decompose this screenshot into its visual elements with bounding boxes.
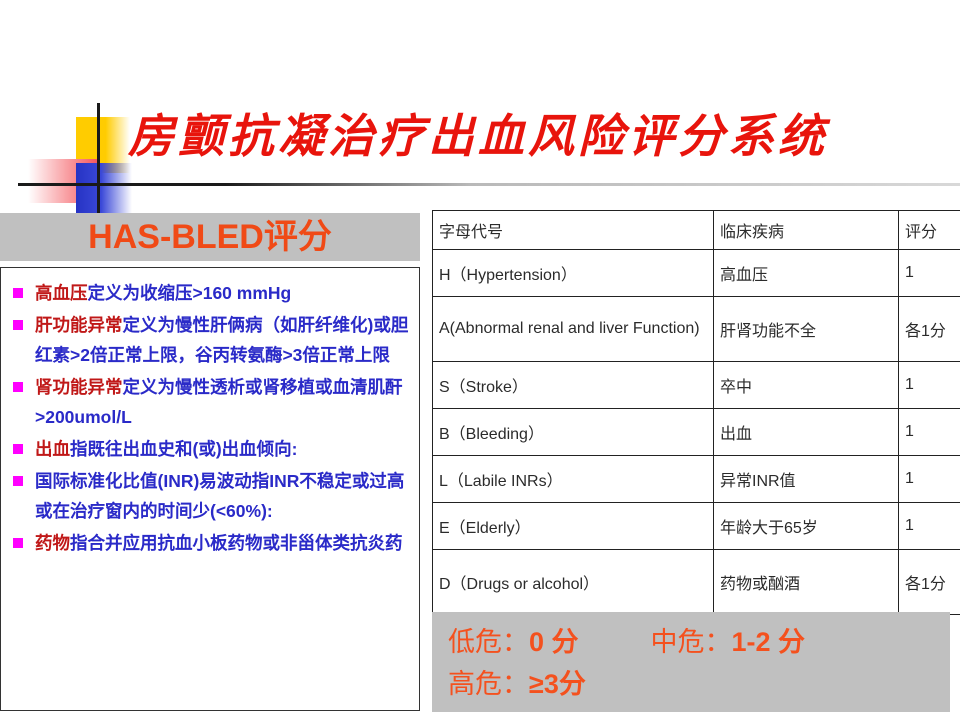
cell-score: 1 bbox=[899, 456, 960, 503]
cell-code: L（Labile INRs） bbox=[433, 456, 714, 503]
risk-high: 高危：≥3分 bbox=[448, 662, 586, 701]
risk-high-label: 高危： bbox=[448, 669, 529, 699]
list-item: 肾功能异常定义为慢性透析或肾移植或血清肌酐>200umol/L bbox=[7, 372, 415, 432]
bullet-rest: 定义为收缩压>160 mmHg bbox=[88, 283, 292, 303]
table-row: S（Stroke） 卒中 1 bbox=[433, 362, 960, 409]
title-band: 房颤抗凝治疗出血风险评分系统 bbox=[0, 95, 960, 195]
risk-line-bottom: 高危：≥3分 bbox=[448, 662, 950, 704]
has-bled-score-table-wrapper: 字母代号 临床疾病 评分 H（Hypertension） 高血压 1 A(Abn… bbox=[432, 210, 950, 649]
column-header-disease: 临床疾病 bbox=[714, 211, 899, 250]
left-panel-header: HAS-BLED评分 bbox=[0, 213, 420, 261]
cell-disease: 年龄大于65岁 bbox=[714, 503, 899, 550]
bullet-keyword: 出血 bbox=[35, 439, 70, 459]
table-row: B（Bleeding） 出血 1 bbox=[433, 409, 960, 456]
column-header-code: 字母代号 bbox=[433, 211, 714, 250]
risk-stratification-box: 低危：0 分 中危：1-2 分 高危：≥3分 bbox=[432, 612, 950, 712]
cell-score: 1 bbox=[899, 409, 960, 456]
bullet-rest: 指既往出血史和(或)出血倾向: bbox=[70, 439, 297, 459]
table-row: A(Abnormal renal and liver Function) 肝肾功… bbox=[433, 297, 960, 362]
has-bled-score-table: 字母代号 临床疾病 评分 H（Hypertension） 高血压 1 A(Abn… bbox=[432, 210, 960, 615]
bullet-keyword: 高血压 bbox=[35, 283, 88, 303]
left-panel-body: 高血压定义为收缩压>160 mmHg 肝功能异常定义为慢性肝俩病（如肝纤维化)或… bbox=[0, 267, 420, 711]
list-item: 药物指合并应用抗血小板药物或非甾体类抗炎药 bbox=[7, 528, 415, 558]
table-row: L（Labile INRs） 异常INR值 1 bbox=[433, 456, 960, 503]
bullet-text: 肾功能异常定义为慢性透析或肾移植或血清肌酐>200umol/L bbox=[35, 372, 415, 432]
cell-disease: 肝肾功能不全 bbox=[714, 297, 899, 362]
cell-code: A(Abnormal renal and liver Function) bbox=[433, 297, 714, 362]
risk-low: 低危：0 分 bbox=[448, 620, 579, 659]
logo-vertical-line bbox=[97, 103, 100, 225]
table-row: D（Drugs or alcohol） 药物或酗酒 各1分 bbox=[433, 550, 960, 615]
cell-code: S（Stroke） bbox=[433, 362, 714, 409]
cell-score: 1 bbox=[899, 362, 960, 409]
risk-mid-value: 1-2 分 bbox=[732, 627, 806, 657]
risk-low-value: 0 分 bbox=[529, 627, 579, 657]
table-row: H（Hypertension） 高血压 1 bbox=[433, 250, 960, 297]
cell-score: 各1分 bbox=[899, 297, 960, 362]
bullet-text: 国际标准化比值(INR)易波动指INR不稳定或过高或在治疗窗内的时间少(<60%… bbox=[35, 466, 415, 526]
bullet-rest: 国际标准化比值(INR)易波动指INR不稳定或过高或在治疗窗内的时间少(<60%… bbox=[35, 471, 404, 521]
risk-mid: 中危：1-2 分 bbox=[651, 620, 806, 659]
bullet-square-icon bbox=[13, 476, 23, 486]
bullet-text: 出血指既往出血史和(或)出血倾向: bbox=[35, 434, 415, 464]
cell-code: B（Bleeding） bbox=[433, 409, 714, 456]
cell-disease: 异常INR值 bbox=[714, 456, 899, 503]
left-panel-title: HAS-BLED评分 bbox=[88, 218, 332, 256]
cell-disease: 卒中 bbox=[714, 362, 899, 409]
bullet-square-icon bbox=[13, 382, 23, 392]
has-bled-definition-panel: HAS-BLED评分 高血压定义为收缩压>160 mmHg 肝功能异常定义为慢性… bbox=[0, 213, 422, 711]
table-row: E（Elderly） 年龄大于65岁 1 bbox=[433, 503, 960, 550]
cell-code: H（Hypertension） bbox=[433, 250, 714, 297]
cell-score: 各1分 bbox=[899, 550, 960, 615]
risk-low-label: 低危： bbox=[448, 627, 529, 657]
bullet-text: 药物指合并应用抗血小板药物或非甾体类抗炎药 bbox=[35, 528, 415, 558]
bullet-square-icon bbox=[13, 444, 23, 454]
cell-code: D（Drugs or alcohol） bbox=[433, 550, 714, 615]
bullet-square-icon bbox=[13, 320, 23, 330]
bullet-keyword: 肝功能异常 bbox=[35, 315, 123, 335]
bullet-text: 高血压定义为收缩压>160 mmHg bbox=[35, 278, 415, 308]
bullet-rest: 指合并应用抗血小板药物或非甾体类抗炎药 bbox=[70, 533, 403, 553]
risk-high-value: ≥3分 bbox=[529, 669, 586, 699]
cell-disease: 药物或酗酒 bbox=[714, 550, 899, 615]
cell-score: 1 bbox=[899, 250, 960, 297]
risk-line-top: 低危：0 分 中危：1-2 分 bbox=[448, 620, 950, 662]
list-item: 国际标准化比值(INR)易波动指INR不稳定或过高或在治疗窗内的时间少(<60%… bbox=[7, 466, 415, 526]
page-title: 房颤抗凝治疗出血风险评分系统 bbox=[128, 97, 960, 175]
bullet-keyword: 肾功能异常 bbox=[35, 377, 123, 397]
cell-disease: 出血 bbox=[714, 409, 899, 456]
cell-score: 1 bbox=[899, 503, 960, 550]
list-item: 高血压定义为收缩压>160 mmHg bbox=[7, 278, 415, 308]
list-item: 肝功能异常定义为慢性肝俩病（如肝纤维化)或胆红素>2倍正常上限，谷丙转氨酶>3倍… bbox=[7, 310, 415, 370]
cell-code: E（Elderly） bbox=[433, 503, 714, 550]
list-item: 出血指既往出血史和(或)出血倾向: bbox=[7, 434, 415, 464]
bullet-keyword: 药物 bbox=[35, 533, 70, 553]
title-underline bbox=[18, 183, 960, 186]
bullet-text: 肝功能异常定义为慢性肝俩病（如肝纤维化)或胆红素>2倍正常上限，谷丙转氨酶>3倍… bbox=[35, 310, 415, 370]
cell-disease: 高血压 bbox=[714, 250, 899, 297]
risk-mid-label: 中危： bbox=[651, 627, 732, 657]
column-header-score: 评分 bbox=[899, 211, 960, 250]
table-header-row: 字母代号 临床疾病 评分 bbox=[433, 211, 960, 250]
bullet-square-icon bbox=[13, 288, 23, 298]
bullet-square-icon bbox=[13, 538, 23, 548]
